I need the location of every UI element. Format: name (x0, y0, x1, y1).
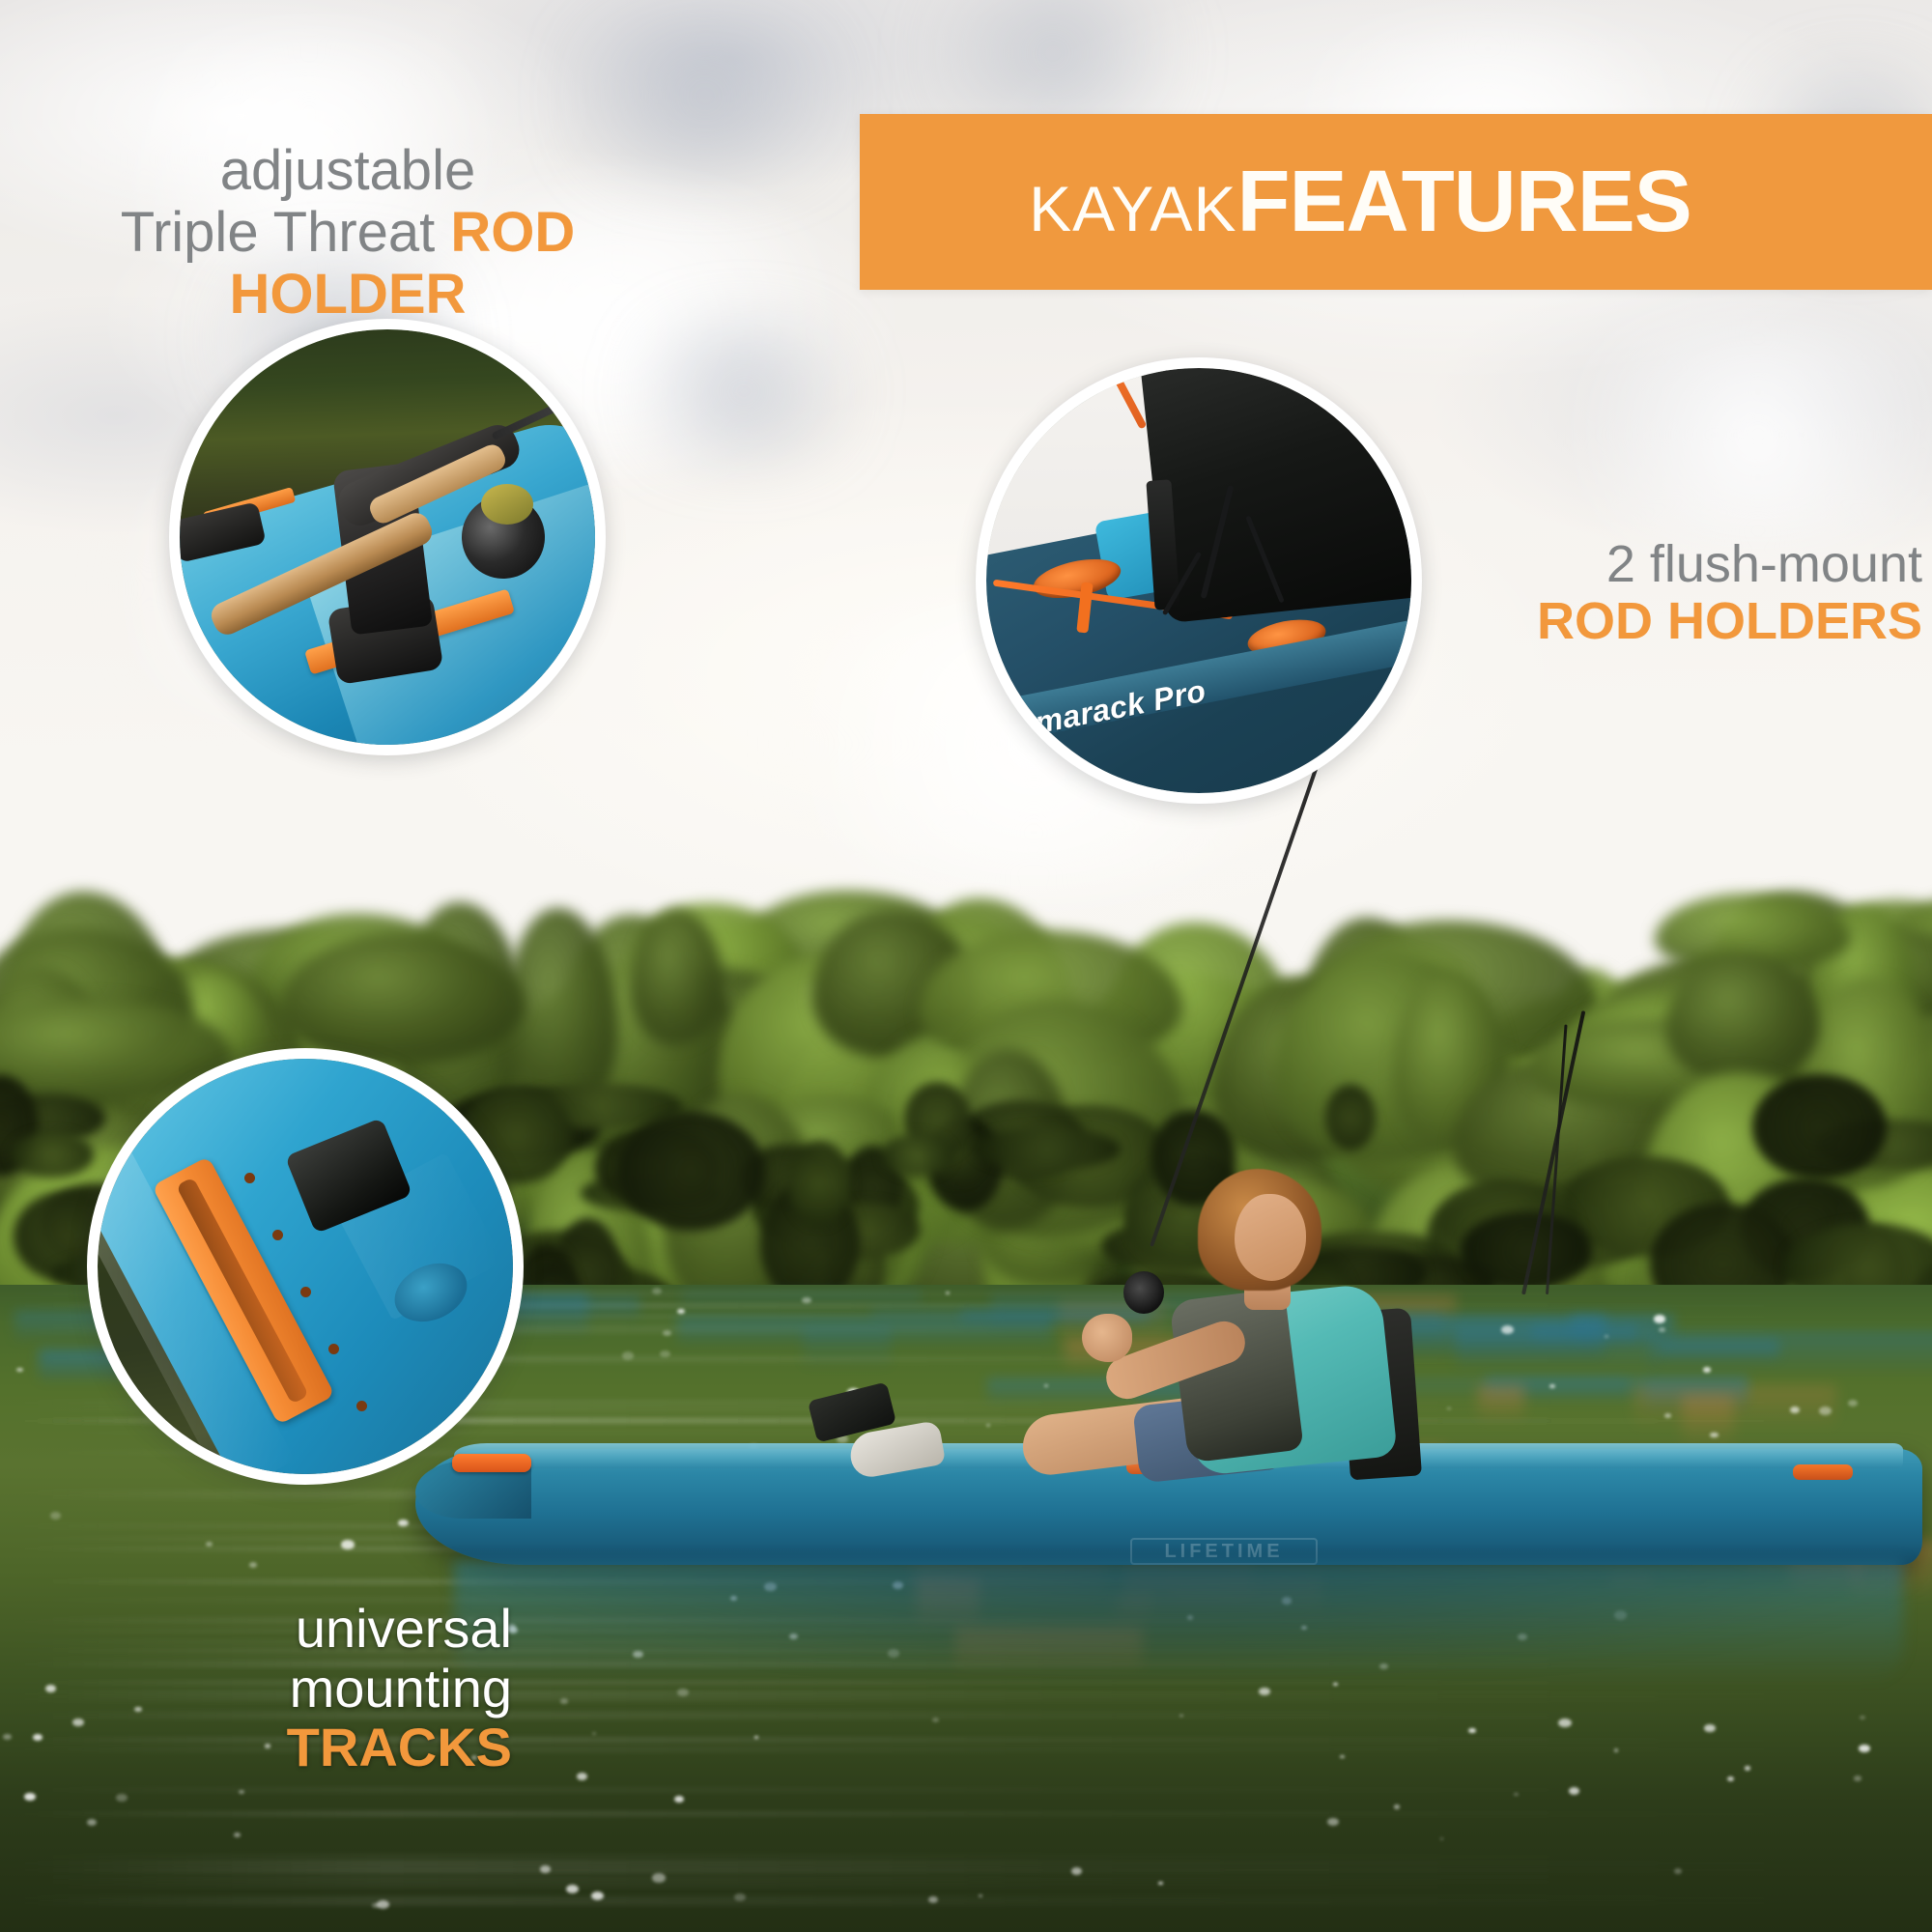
water-sparkle (979, 1894, 982, 1897)
water-streak (0, 1787, 1932, 1793)
water-sparkle (1745, 1766, 1751, 1771)
water-sparkle (802, 1297, 810, 1304)
stern-carry-handle (1793, 1464, 1853, 1480)
water-sparkle (1614, 1748, 1619, 1751)
callout-circle-flush-mount-holders: marack Pro (976, 357, 1422, 804)
label-rod-holders-line1: 2 flush-mount (1430, 536, 1922, 593)
water-sparkle (1674, 1868, 1682, 1874)
label-tracks-line2: mounting (106, 1659, 512, 1719)
water-sparkle (24, 1793, 35, 1801)
water-sparkle (16, 1368, 23, 1373)
water-sparkle (1727, 1776, 1734, 1781)
water-sparkle (540, 1865, 551, 1873)
water-sparkle (1605, 1335, 1608, 1338)
label-tracks-line1: universal (106, 1599, 512, 1659)
label-rod-holder: adjustable Triple Threat ROD HOLDER (58, 140, 638, 325)
water-streak (0, 1867, 1932, 1873)
water-sparkle (1704, 1724, 1716, 1732)
tree-shrub (1325, 1085, 1376, 1151)
water-sparkle (87, 1819, 97, 1826)
water-sparkle (1340, 1755, 1344, 1758)
tree-shrub (882, 1134, 952, 1177)
label-rod-holder-line2-bold: ROD (450, 201, 575, 264)
water-sparkle (592, 1732, 596, 1735)
angler-face (1235, 1194, 1306, 1281)
water-reflection-warm (1682, 1395, 1734, 1447)
water-sparkle (1440, 1837, 1443, 1839)
water-reflection-sky (1658, 1341, 1779, 1361)
track-mounting-hole (244, 1173, 255, 1183)
water-sparkle (33, 1734, 43, 1741)
water-sparkle (1071, 1867, 1082, 1875)
water-sparkle (591, 1891, 604, 1900)
label-mounting-tracks: universal mounting TRACKS (106, 1599, 512, 1777)
water-sparkle (1569, 1787, 1579, 1795)
water-sparkle (1514, 1793, 1519, 1796)
track-mounting-hole (300, 1287, 311, 1297)
water-sparkle (1394, 1804, 1400, 1808)
water-sparkle (1860, 1716, 1865, 1719)
label-tracks-line3: TRACKS (106, 1718, 512, 1777)
water-sparkle (239, 1790, 244, 1794)
track-mounting-hole (328, 1344, 339, 1354)
kayak-features-banner: KAYAKFEATURES (860, 114, 1932, 290)
water-sparkle (1558, 1719, 1572, 1728)
water-sparkle (1848, 1400, 1858, 1406)
water-sparkle (566, 1885, 579, 1893)
water-sparkle (1468, 1728, 1476, 1733)
cloud-shadow (580, 319, 908, 464)
water-sparkle (72, 1719, 84, 1726)
label-flush-mount-rod-holders: 2 flush-mount ROD HOLDERS (1430, 536, 1922, 651)
water-streak (0, 1854, 1932, 1860)
water-sparkle (249, 1562, 257, 1568)
water-sparkle (1703, 1367, 1711, 1373)
banner-title-bold: FEATURES (1236, 154, 1690, 250)
water-sparkle (674, 1796, 684, 1803)
kayak-angler (1140, 1169, 1604, 1468)
track-mounting-hole (272, 1230, 283, 1240)
label-rod-holder-line3: HOLDER (58, 264, 638, 326)
infographic-canvas: LIFETIME KAYAKFEATURES (0, 0, 1932, 1932)
track-mounting-hole (356, 1401, 367, 1411)
callout-circle-rod-holder (169, 319, 606, 755)
callout1-reel-spool (481, 484, 533, 525)
water-sparkle (652, 1873, 666, 1882)
kayak-reflection (454, 1561, 1903, 1706)
water-sparkle (377, 1900, 389, 1909)
water-sparkle (986, 1424, 990, 1427)
water-sparkle (116, 1794, 127, 1802)
callout-circle-mounting-tracks (87, 1048, 524, 1485)
water-sparkle (677, 1309, 685, 1314)
tree-shrub (788, 1141, 851, 1226)
water-streak (0, 1861, 1932, 1866)
water-sparkle (234, 1833, 241, 1837)
label-rod-holder-line1: adjustable (58, 140, 638, 202)
water-reflection-warm (1634, 1385, 1836, 1428)
water-sparkle (1854, 1776, 1861, 1781)
label-rod-holder-line2-prefix: Triple Threat (121, 201, 451, 264)
water-sparkle (50, 1512, 61, 1520)
water-sparkle (577, 1773, 588, 1780)
tree-shrub (974, 1127, 1121, 1171)
water-sparkle (663, 1330, 671, 1336)
tree-shrub (11, 1132, 93, 1178)
water-streak (0, 1811, 1932, 1817)
water-sparkle (932, 1718, 939, 1722)
water-sparkle (341, 1540, 354, 1548)
water-sparkle (3, 1734, 11, 1740)
water-sparkle (1659, 1327, 1665, 1332)
angler-hand (1082, 1314, 1132, 1362)
banner-title: KAYAKFEATURES (1029, 158, 1763, 245)
water-sparkle (1327, 1818, 1339, 1826)
water-streak (0, 1879, 1932, 1885)
tree-shrub (617, 1112, 765, 1231)
label-rod-holder-line2: Triple Threat ROD (58, 202, 638, 264)
water-streak (0, 1895, 1932, 1901)
banner-title-light: KAYAK (1029, 173, 1236, 244)
tree-shrub (1752, 1074, 1887, 1179)
label-rod-holders-line2: ROD HOLDERS (1430, 593, 1922, 650)
